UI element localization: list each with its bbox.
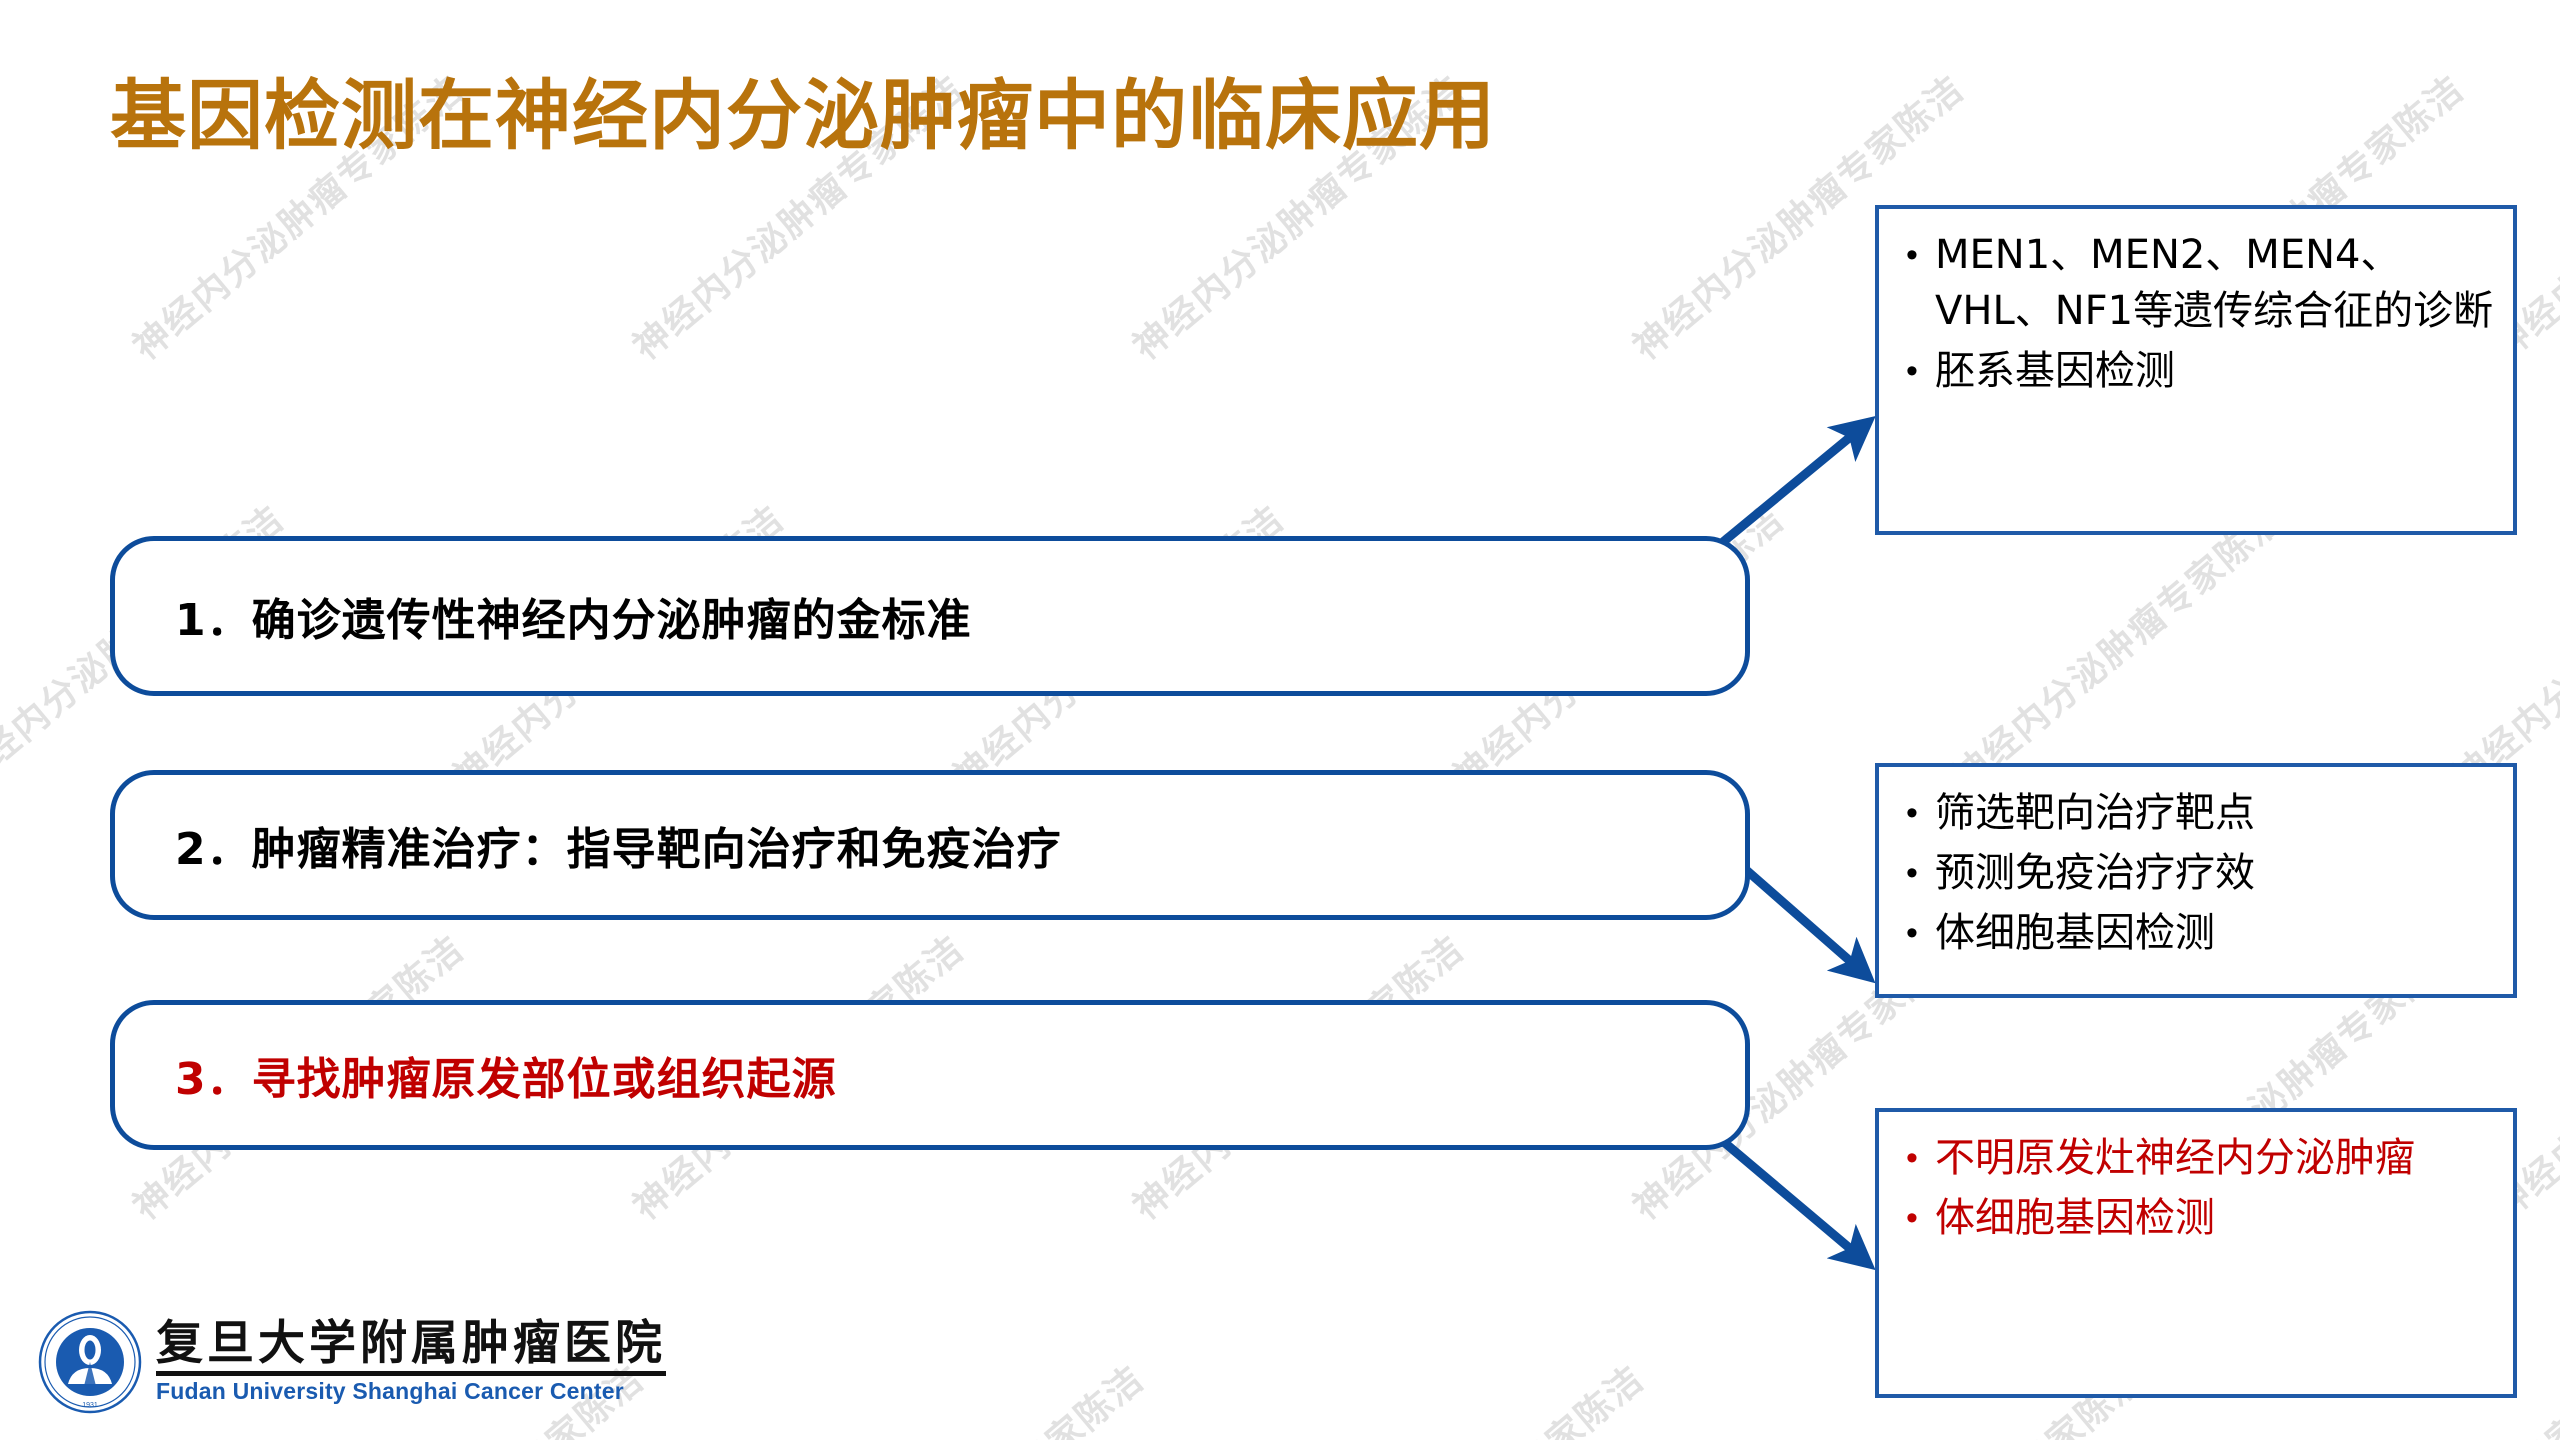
svg-text:1931: 1931 <box>82 1402 98 1409</box>
right-box-2-list: • 筛选靶向治疗靶点 • 预测免疫治疗疗效 • 体细胞基因检测 <box>1889 785 2499 961</box>
logo-chinese-name: 复旦大学附属肿瘤医院 <box>156 1319 666 1368</box>
bullet-label: 体细胞基因检测 <box>1935 1190 2499 1246</box>
bullet-dot-icon: • <box>1889 1130 1935 1186</box>
logo-divider <box>156 1371 666 1376</box>
institution-logo: 1931 复旦大学附属肿瘤医院 Fudan University Shangha… <box>38 1310 666 1414</box>
left-box-2-label: 2．肿瘤精准治疗：指导靶向治疗和免疫治疗 <box>115 813 1062 877</box>
watermark-text: 神经内分泌肿瘤专家陈洁 <box>800 1351 1154 1440</box>
right-box-1[interactable]: • MEN1、MEN2、MEN4、VHL、NF1等遗传综合征的诊断 • 胚系基因… <box>1875 205 2517 535</box>
bullet-label: 预测免疫治疗疗效 <box>1935 845 2499 901</box>
list-item: • 胚系基因检测 <box>1889 343 2499 399</box>
bullet-dot-icon: • <box>1889 845 1935 901</box>
right-box-3[interactable]: • 不明原发灶神经内分泌肿瘤 • 体细胞基因检测 <box>1875 1108 2517 1398</box>
bullet-dot-icon: • <box>1889 905 1935 961</box>
list-item: • MEN1、MEN2、MEN4、VHL、NF1等遗传综合征的诊断 <box>1889 227 2499 339</box>
list-item: • 不明原发灶神经内分泌肿瘤 <box>1889 1130 2499 1186</box>
bullet-label: 胚系基因检测 <box>1935 343 2499 399</box>
list-item: • 预测免疫治疗疗效 <box>1889 845 2499 901</box>
right-box-2[interactable]: • 筛选靶向治疗靶点 • 预测免疫治疗疗效 • 体细胞基因检测 <box>1875 763 2517 998</box>
left-box-1[interactable]: 1．确诊遗传性神经内分泌肿瘤的金标准 <box>110 536 1750 696</box>
bullet-dot-icon: • <box>1889 343 1935 399</box>
logo-text-wrap: 复旦大学附属肿瘤医院 Fudan University Shanghai Can… <box>156 1319 666 1405</box>
fudan-seal-icon: 1931 <box>38 1310 142 1414</box>
bullet-label: MEN1、MEN2、MEN4、VHL、NF1等遗传综合征的诊断 <box>1935 227 2499 339</box>
bullet-dot-icon: • <box>1889 1190 1935 1246</box>
right-box-1-list: • MEN1、MEN2、MEN4、VHL、NF1等遗传综合征的诊断 • 胚系基因… <box>1889 227 2499 399</box>
page-title: 基因检测在神经内分泌肿瘤中的临床应用 <box>110 72 1850 159</box>
slide-canvas: 神经内分泌肿瘤专家陈洁神经内分泌肿瘤专家陈洁神经内分泌肿瘤专家陈洁神经内分泌肿瘤… <box>0 0 2560 1440</box>
list-item: • 筛选靶向治疗靶点 <box>1889 785 2499 841</box>
logo-english-name: Fudan University Shanghai Cancer Center <box>156 1378 666 1405</box>
bullet-label: 体细胞基因检测 <box>1935 905 2499 961</box>
arrow-box3-to-right3 <box>1712 1132 1866 1262</box>
right-box-3-list: • 不明原发灶神经内分泌肿瘤 • 体细胞基因检测 <box>1889 1130 2499 1246</box>
bullet-label: 不明原发灶神经内分泌肿瘤 <box>1935 1130 2499 1186</box>
left-box-3-label: 3．寻找肿瘤原发部位或组织起源 <box>115 1043 837 1107</box>
left-box-3[interactable]: 3．寻找肿瘤原发部位或组织起源 <box>110 1000 1750 1150</box>
arrow-box1-to-right1 <box>1706 424 1866 556</box>
watermark-text: 神经内分泌肿瘤专家陈洁 <box>1300 1351 1654 1440</box>
list-item: • 体细胞基因检测 <box>1889 1190 2499 1246</box>
bullet-dot-icon: • <box>1889 785 1935 841</box>
list-item: • 体细胞基因检测 <box>1889 905 2499 961</box>
bullet-dot-icon: • <box>1889 227 1935 283</box>
left-box-2[interactable]: 2．肿瘤精准治疗：指导靶向治疗和免疫治疗 <box>110 770 1750 920</box>
watermark-text: 神经内分泌肿瘤专家陈洁 <box>2440 491 2560 800</box>
bullet-label: 筛选靶向治疗靶点 <box>1935 785 2499 841</box>
watermark-text: 神经内分泌肿瘤专家陈洁 <box>1940 491 2294 800</box>
left-box-1-label: 1．确诊遗传性神经内分泌肿瘤的金标准 <box>115 584 972 648</box>
